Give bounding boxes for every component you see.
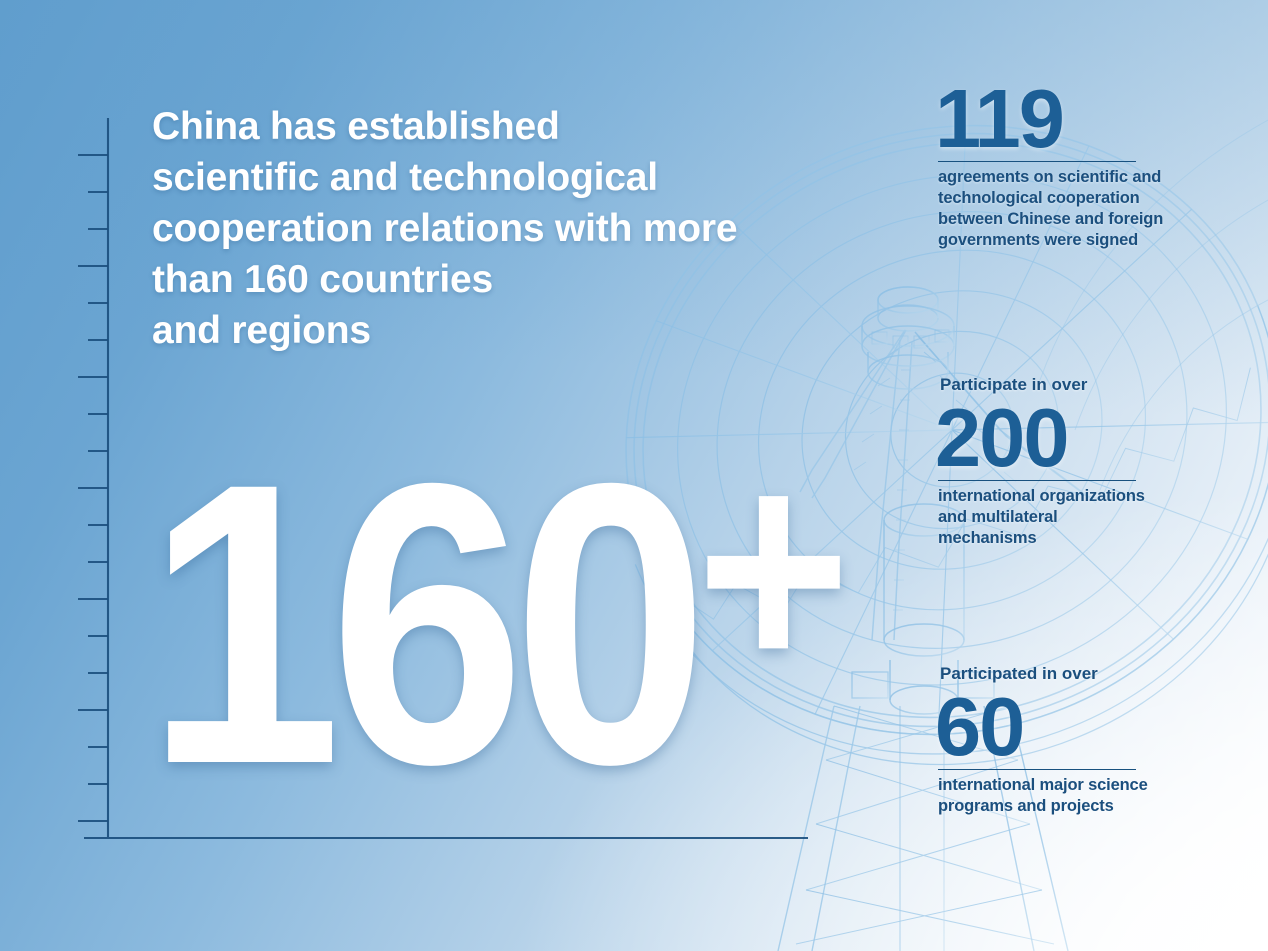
hero-plus-suffix: +	[696, 400, 850, 736]
stat-block-agreements: 119 agreements on scientific and technol…	[938, 78, 1186, 251]
infographic-canvas: China has established scientific and tec…	[0, 0, 1268, 951]
stat-number: 60	[935, 686, 1186, 768]
statistics-column: 119 agreements on scientific and technol…	[938, 0, 1188, 951]
hero-statistic: 160+	[146, 368, 851, 824]
stat-block-organizations: Participate in over 200 international or…	[938, 374, 1186, 549]
stat-caption: agreements on scientific and technologic…	[938, 167, 1186, 251]
hero-number: 160	[146, 400, 696, 847]
headline-text: China has established scientific and tec…	[152, 101, 852, 356]
stat-number: 119	[935, 78, 1186, 160]
stat-caption: international major science programs and…	[938, 775, 1186, 817]
stat-caption: international organizations and multilat…	[938, 486, 1186, 549]
stat-block-programs: Participated in over 60 international ma…	[938, 663, 1186, 817]
stat-number: 200	[935, 397, 1186, 479]
